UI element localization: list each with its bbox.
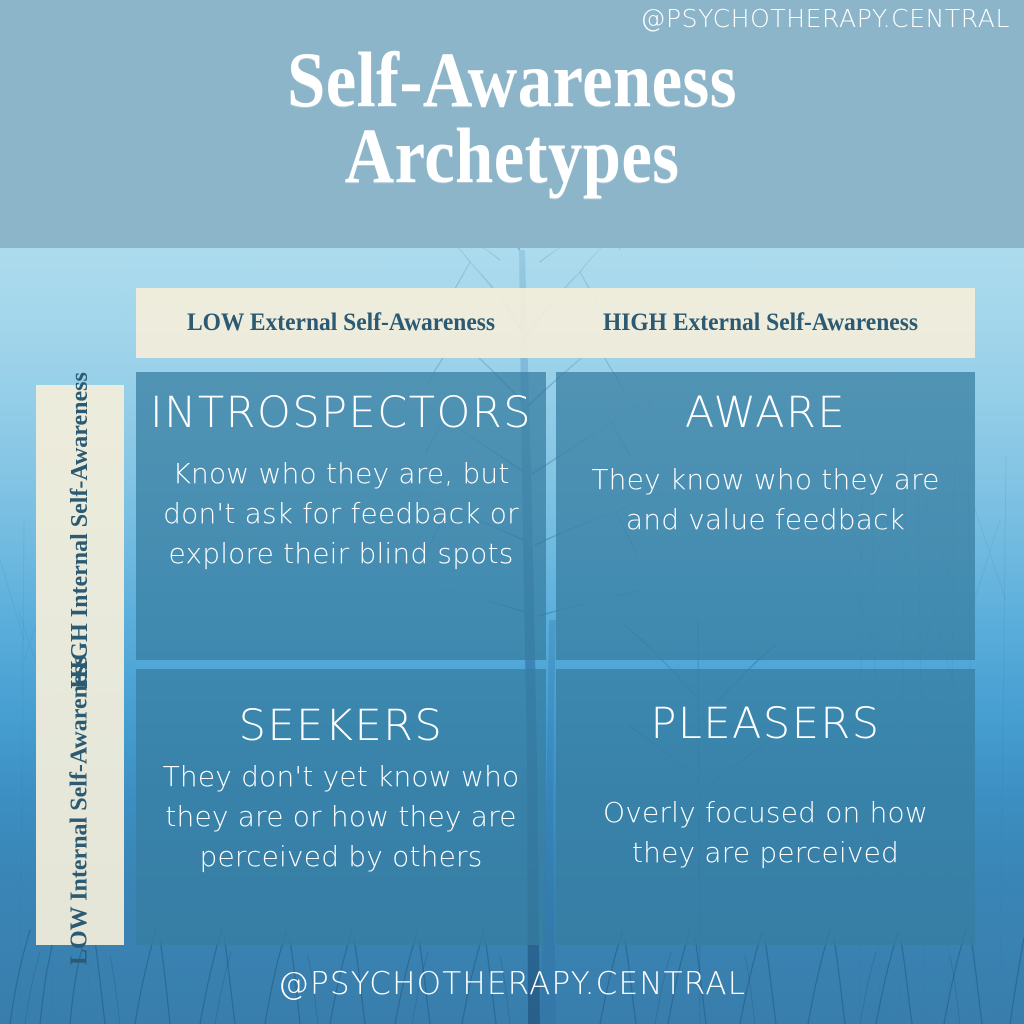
quadrant-aware-body: They know who they are and value feedbac… [582, 460, 949, 540]
row-header-low-internal: LOW Internal Self-Awareness [36, 675, 124, 945]
quadrant-seekers: SEEKERS They don't yet know who they are… [136, 669, 546, 945]
quadrant-introspectors-body: Know who they are, but don't ask for fee… [162, 454, 520, 573]
page-title-line-2: Archetypes [61, 118, 962, 194]
row-header-low-internal-label: LOW Internal Self-Awareness [65, 655, 96, 964]
row-header-high-internal-label: HIGH Internal Self-Awareness [65, 372, 96, 688]
row-header-band: HIGH Internal Self-Awareness LOW Interna… [36, 385, 124, 945]
page-title: Self-Awareness Archetypes [61, 42, 962, 195]
row-header-high-internal: HIGH Internal Self-Awareness [36, 385, 124, 675]
quadrant-introspectors: INTROSPECTORS Know who they are, but don… [136, 372, 546, 660]
quadrant-aware: AWARE They know who they are and value f… [556, 372, 975, 660]
quadrant-pleasers-body: Overly focused on how they are perceived [582, 793, 949, 873]
column-header-low-external: LOW External Self-Awareness [148, 288, 533, 358]
quadrant-grid: INTROSPECTORS Know who they are, but don… [136, 372, 975, 945]
quadrant-pleasers-title: PLEASERS [650, 701, 880, 747]
quadrant-seekers-title: SEEKERS [239, 703, 444, 749]
brand-handle-bottom: @PSYCHOTHERAPY.CENTRAL [0, 966, 1024, 1002]
quadrant-pleasers: PLEASERS Overly focused on how they are … [556, 669, 975, 945]
brand-handle-top: @PSYCHOTHERAPY.CENTRAL [640, 4, 1010, 33]
quadrant-introspectors-title: INTROSPECTORS [150, 390, 532, 436]
column-header-band: LOW External Self-Awareness HIGH Externa… [136, 288, 975, 358]
quadrant-seekers-body: They don't yet know who they are or how … [162, 757, 520, 876]
page-title-line-1: Self-Awareness [61, 42, 962, 118]
infographic-poster: @PSYCHOTHERAPY.CENTRAL Self-Awareness Ar… [0, 0, 1024, 1024]
quadrant-aware-title: AWARE [685, 390, 846, 436]
column-header-high-external: HIGH External Self-Awareness [559, 288, 962, 358]
